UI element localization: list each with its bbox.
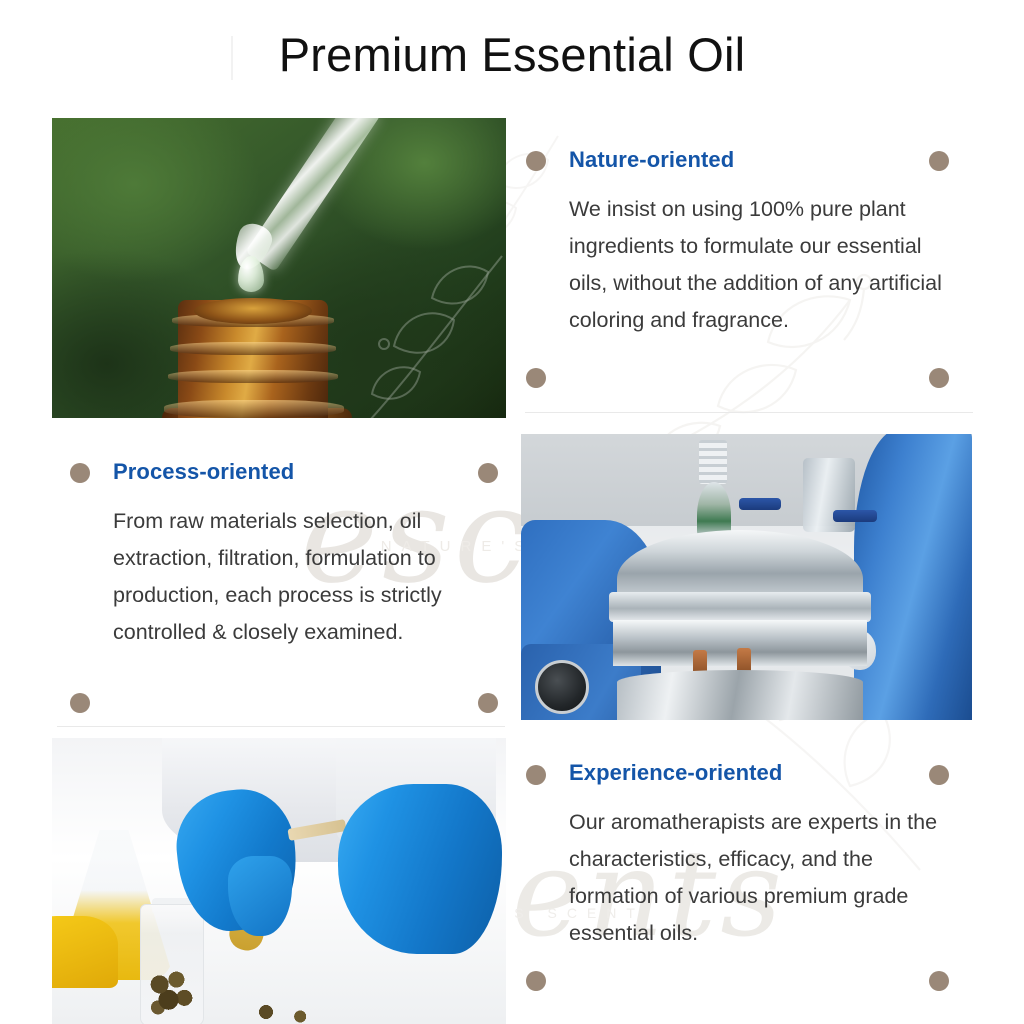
right-gloved-hand (338, 784, 502, 954)
blue-valve-handle (739, 498, 781, 510)
feature-block-process-oriented: Process-oriented From raw materials sele… (113, 460, 505, 651)
feature-heading-2: Process-oriented (113, 460, 505, 484)
decorative-dot (70, 693, 90, 713)
decorative-dot (526, 151, 546, 171)
bottle-shoulder-ring (164, 400, 344, 418)
photo-reactor-tank-workers (521, 434, 972, 720)
decorative-dot (929, 971, 949, 991)
decorative-dot (526, 368, 546, 388)
section-divider-1 (525, 412, 973, 413)
bottle-thread-ring (168, 370, 338, 383)
photo-1-leaf-overlay (362, 248, 506, 418)
bottle-thread-ring (170, 342, 336, 355)
page-title: Premium Essential Oil (0, 27, 1024, 82)
decorative-dot (478, 463, 498, 483)
tank-vent-pipes (699, 440, 727, 484)
photo-lab-gloved-hands (52, 738, 506, 1024)
pressure-gauge (535, 660, 589, 714)
feature-body-3: Our aromatherapists are experts in the c… (569, 804, 961, 952)
photo-dropper-amber-bottle (52, 118, 506, 418)
scattered-herb-specks (248, 1000, 338, 1024)
decorative-dot (478, 693, 498, 713)
feature-heading-3: Experience-oriented (569, 761, 961, 785)
yellow-oil-pool (52, 916, 118, 988)
feature-block-experience-oriented: Experience-oriented Our aromatherapists … (569, 761, 961, 952)
bottle-mouth (194, 298, 312, 324)
feature-body-2: From raw materials selection, oil extrac… (113, 503, 505, 651)
tank-lower-vessel (617, 670, 863, 720)
feature-block-nature-oriented: Nature-oriented We insist on using 100% … (569, 148, 961, 339)
decorative-dot (929, 765, 949, 785)
decorative-dot (526, 971, 546, 991)
decorative-dot (70, 463, 90, 483)
tank-flange (609, 592, 871, 622)
decorative-dot (929, 151, 949, 171)
worker-right-blue-suit (854, 434, 972, 720)
feature-heading-1: Nature-oriented (569, 148, 961, 172)
section-divider-2 (57, 726, 505, 727)
feature-body-1: We insist on using 100% pure plant ingre… (569, 191, 961, 339)
decorative-dot (929, 368, 949, 388)
infographic-page: escents NATURE'S SCENT escents NATURE'S … (0, 0, 1024, 1024)
decorative-dot (526, 765, 546, 785)
dried-herb-pieces (150, 970, 194, 1018)
blue-valve-handle (833, 510, 877, 522)
